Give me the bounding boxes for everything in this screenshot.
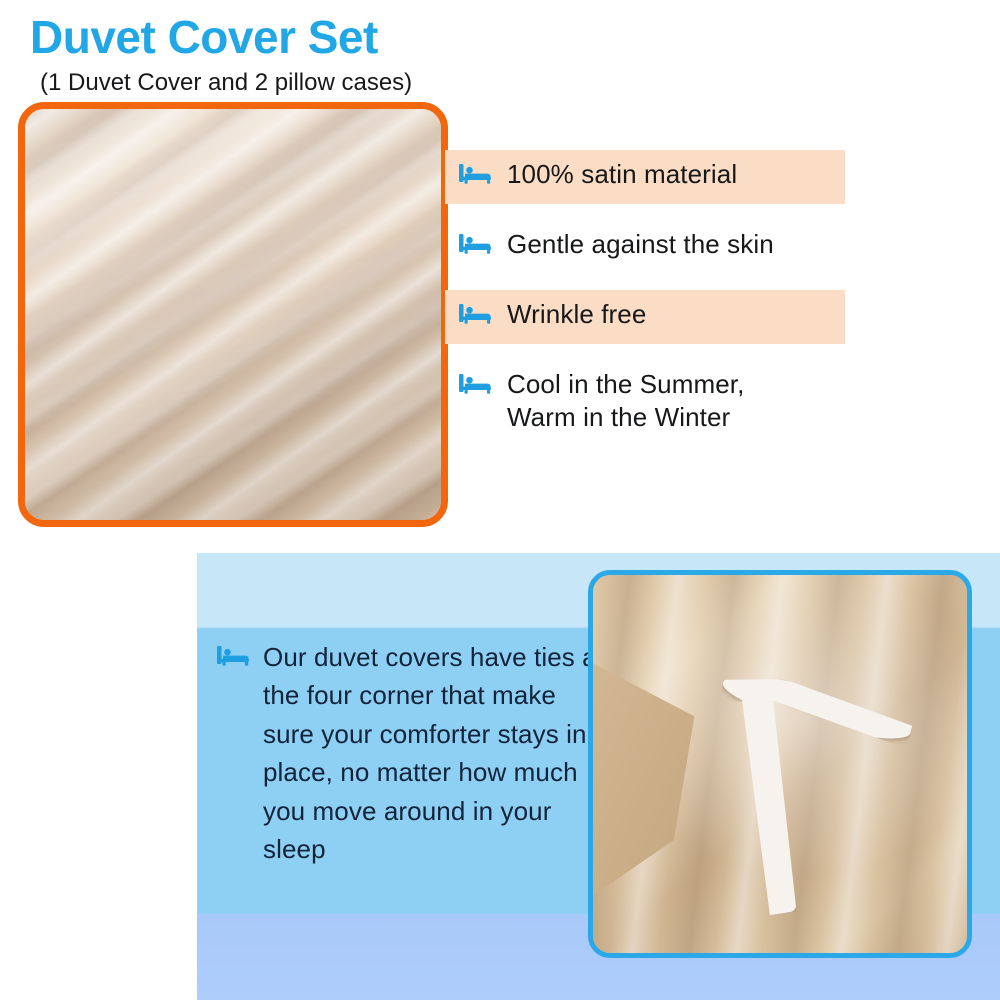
row-spacer bbox=[445, 204, 845, 220]
duvet-corner-ties-photo bbox=[588, 570, 972, 958]
bed-icon bbox=[459, 232, 493, 254]
page-title: Duvet Cover Set bbox=[30, 14, 378, 60]
fabric-shading-overlay bbox=[18, 102, 448, 527]
feature-item-wrinkle-free: Wrinkle free bbox=[445, 290, 845, 344]
feature-list: 100% satin material Gentle against the s… bbox=[445, 150, 845, 443]
feature-item-gentle-skin: Gentle against the skin bbox=[445, 220, 845, 274]
feature-label: Cool in the Summer, Warm in the Winter bbox=[507, 368, 744, 435]
feature-label: Wrinkle free bbox=[507, 298, 646, 331]
bed-icon bbox=[459, 162, 493, 184]
tie-description-block: Our duvet covers have ties at the four c… bbox=[217, 638, 607, 869]
feature-label: Gentle against the skin bbox=[507, 228, 774, 261]
row-spacer bbox=[445, 274, 845, 290]
feature-item-satin-material: 100% satin material bbox=[445, 150, 845, 204]
feature-label: 100% satin material bbox=[507, 158, 737, 191]
page-subtitle: (1 Duvet Cover and 2 pillow cases) bbox=[40, 70, 412, 96]
bed-icon bbox=[459, 372, 493, 394]
feature-item-cool-warm: Cool in the Summer, Warm in the Winter bbox=[445, 360, 845, 443]
tie-description-text: Our duvet covers have ties at the four c… bbox=[263, 638, 607, 869]
top-section: Duvet Cover Set (1 Duvet Cover and 2 pil… bbox=[0, 0, 1000, 552]
satin-fabric-folds-photo bbox=[18, 102, 448, 527]
bottom-section: Our duvet covers have ties at the four c… bbox=[197, 553, 1000, 1000]
bed-icon bbox=[459, 302, 493, 324]
bed-icon bbox=[217, 644, 251, 666]
row-spacer bbox=[445, 344, 845, 360]
